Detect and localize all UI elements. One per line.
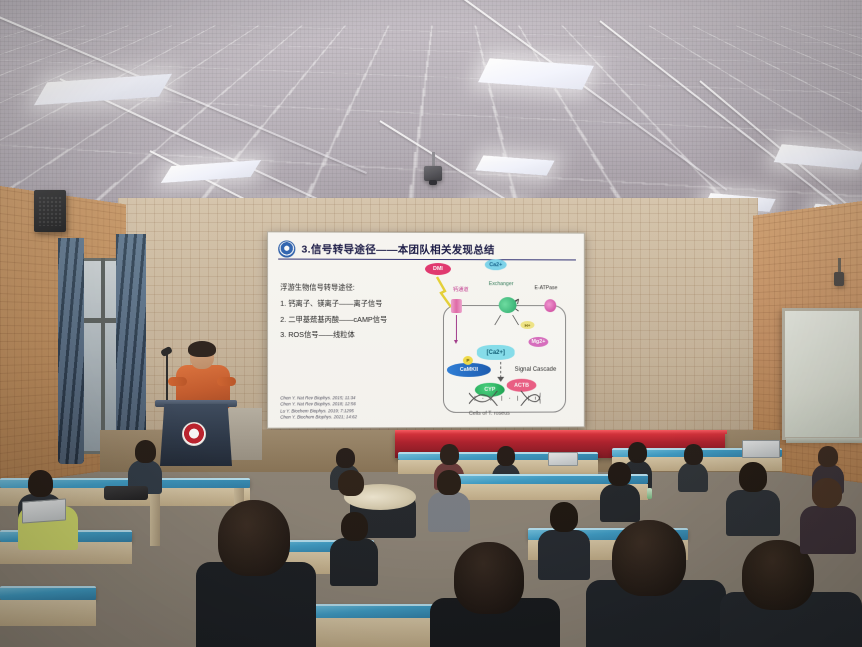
exchanger-label: Exchanger (489, 281, 514, 287)
slide-bullets-heading: 浮游生物信号转导途径: (280, 281, 421, 294)
bag (104, 486, 148, 500)
slide-bullet-list: 浮游生物信号转导途径: 1. 钙离子、镁离子——离子信号 2. 二甲基巯基丙酸—… (280, 281, 421, 344)
person-head (812, 478, 842, 508)
presenter-arm (168, 377, 187, 386)
audience-member (726, 462, 780, 534)
person-head (454, 542, 524, 614)
person-head (739, 462, 767, 492)
person-torso (726, 490, 780, 536)
audience-member (600, 462, 640, 520)
person-torso (330, 538, 378, 586)
laptop (742, 440, 780, 458)
calcium-influx-arrow (456, 315, 457, 341)
desk-surface (0, 586, 96, 600)
person-head (612, 520, 686, 596)
university-crest-icon (182, 422, 206, 446)
calcium-out-blob: Ca2+ (485, 259, 507, 270)
reference-line: Chen Y. Biochem Biophys. 2021; 14:62 (280, 414, 423, 421)
person-head (684, 444, 703, 465)
stage-table-edge (395, 430, 727, 434)
podium-side-panel (228, 408, 262, 460)
desk-row (300, 604, 450, 618)
person-head (440, 444, 459, 465)
presenter-arm (217, 377, 236, 386)
window-curtain-left (58, 238, 84, 464)
person-head (437, 470, 461, 495)
laptop (22, 498, 66, 523)
slide-bullet-item: 3. ROS信号——线粒体 (280, 328, 421, 341)
camkii-blob: CaMKII (447, 363, 491, 377)
channel-label: 钙通道 (453, 286, 469, 293)
wall-speaker-icon (34, 190, 66, 232)
presenter (176, 343, 230, 405)
atpase-label: E-ATPase (534, 285, 557, 291)
atpase-icon (544, 299, 556, 312)
audience-member (128, 440, 162, 492)
wall-camera-icon (834, 272, 844, 286)
desk-panel (300, 618, 450, 647)
slide-bullet-item: 2. 二甲基巯基丙酸——cAMP信号 (280, 312, 421, 325)
water-bottle (647, 488, 652, 499)
person-head (336, 448, 355, 468)
audience-member (800, 478, 856, 552)
presenter-hair (188, 341, 216, 357)
person-head (497, 446, 515, 466)
dmi-blob: DMI (425, 263, 451, 275)
whiteboard-marker-tray (786, 438, 862, 443)
person-head (338, 470, 364, 496)
slide-bullet-item: 1. 钙离子、镁离子——离子信号 (280, 297, 421, 310)
desk-row (0, 586, 96, 600)
person-torso (678, 462, 708, 492)
audience-member (720, 540, 862, 647)
person-torso (428, 492, 470, 532)
slide-references: Chen Y. Nat Rev Biophys. 2015; 11:34 Che… (280, 395, 423, 422)
diagram-caption: Cells of T. roseus (469, 411, 510, 417)
person-torso (600, 484, 640, 522)
audience-member (196, 500, 316, 647)
projector-lens (429, 180, 437, 185)
person-head (218, 500, 290, 576)
camera-mount (838, 258, 841, 272)
university-emblem-icon (278, 240, 295, 257)
person-torso (800, 506, 856, 554)
ceiling-projector (424, 166, 442, 181)
calcium-channel-icon (451, 299, 462, 313)
gooseneck-microphone-stand (166, 352, 168, 404)
laptop (548, 452, 578, 466)
dna-helix-icon (469, 391, 540, 406)
lecture-hall-photo: 3.信号转导途径——本团队相关发现总结 浮游生物信号转导途径: 1. 钙离子、镁… (0, 0, 862, 647)
person-head (818, 446, 838, 467)
person-head (550, 502, 578, 532)
person-head (608, 462, 631, 486)
phosphate-blob: P (463, 356, 473, 365)
signal-pathway-diagram: DMI Ca2+ 钙通道 Exchanger E-ATPase (423, 259, 578, 421)
desk-panel (0, 600, 96, 626)
audience-member (678, 444, 708, 490)
desk-leg (150, 488, 160, 546)
exchanger-icon (499, 297, 517, 313)
lectern (160, 404, 232, 466)
presentation-slide: 3.信号转导途径——本团队相关发现总结 浮游生物信号转导途径: 1. 钙离子、镁… (268, 232, 584, 427)
calcium-in-blob: [Ca2+] (477, 345, 515, 360)
desk-surface (300, 604, 450, 618)
whiteboard (782, 308, 862, 440)
person-head (628, 442, 647, 463)
audience-member (586, 520, 726, 647)
signal-cascade-label: Signal Cascade (515, 367, 557, 373)
h-ion-blob: H+ (521, 321, 535, 329)
slide-title-row: 3.信号转导途径——本团队相关发现总结 (278, 238, 576, 260)
audience-member (430, 542, 560, 647)
window-mullion (101, 258, 105, 454)
person-head (341, 512, 368, 541)
projection-screen: 3.信号转导途径——本团队相关发现总结 浮游生物信号转导途径: 1. 钙离子、镁… (267, 231, 585, 428)
audience-member (428, 470, 470, 530)
audience-member (330, 512, 378, 584)
person-head (135, 440, 156, 463)
slide-title: 3.信号转导途径——本团队相关发现总结 (301, 241, 494, 257)
mg-ion-blob: Mg2+ (528, 337, 548, 347)
